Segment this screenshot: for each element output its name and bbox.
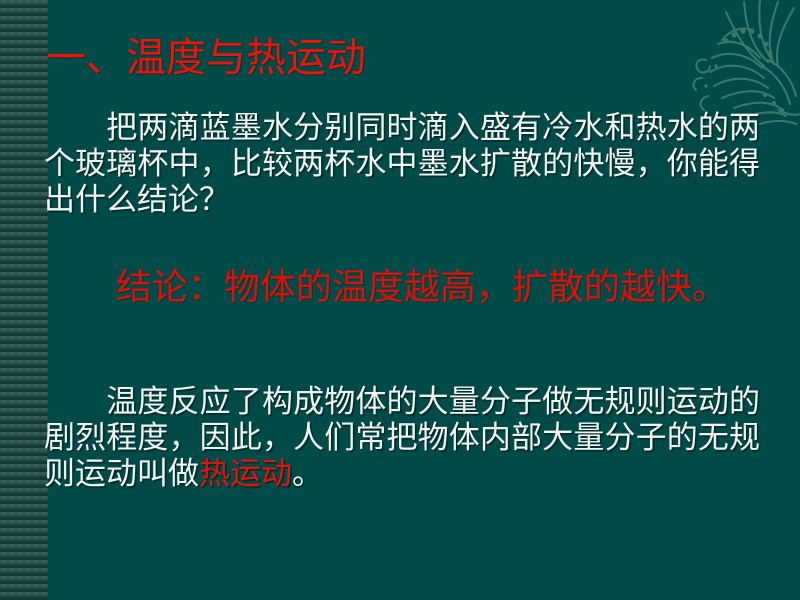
page-title: 一、温度与热运动	[46, 36, 766, 81]
definition-text-after: 。	[292, 456, 323, 491]
definition-text-before: 温度反应了构成物体的大量分子做无规则运动的剧烈程度，因此，人们常把物体内部大量分…	[44, 384, 760, 491]
paragraph-definition: 温度反应了构成物体的大量分子做无规则运动的剧烈程度，因此，人们常把物体内部大量分…	[44, 384, 760, 492]
slide-canvas: 一、温度与热运动 把两滴蓝墨水分别同时滴入盛有冷水和热水的两个玻璃杯中，比较两杯…	[0, 0, 800, 600]
paragraph-question: 把两滴蓝墨水分别同时滴入盛有冷水和热水的两个玻璃杯中，比较两杯水中墨水扩散的快慢…	[44, 110, 760, 218]
paragraph-conclusion: 结论：物体的温度越高，扩散的越快。	[44, 265, 760, 309]
definition-highlight-term: 热运动	[199, 456, 292, 491]
slide-content: 一、温度与热运动 把两滴蓝墨水分别同时滴入盛有冷水和热水的两个玻璃杯中，比较两杯…	[0, 0, 800, 600]
